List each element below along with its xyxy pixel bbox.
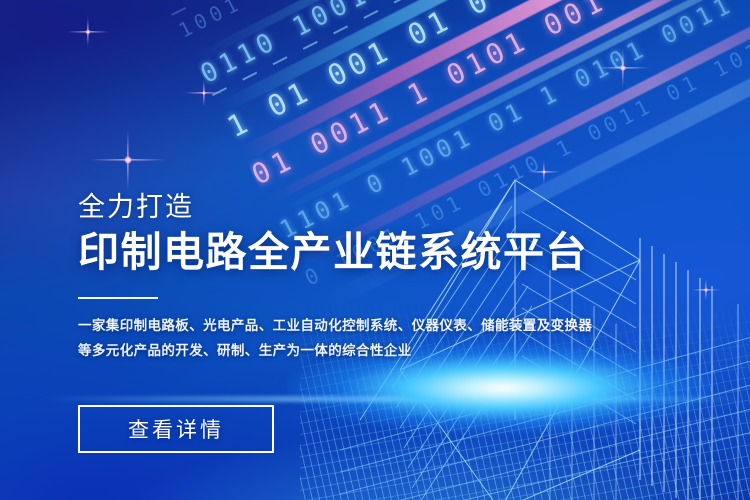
hero-eyebrow: 全力打造 [78,192,678,223]
divider-rule [78,297,158,299]
hero-description-line-1: 一家集印制电路板、光电产品、工业自动化控制系统、仪器仪表、储能装置及变换器 [78,313,678,338]
hero-copy-block: 全力打造 印制电路全产业链系统平台 一家集印制电路板、光电产品、工业自动化控制系… [78,192,678,363]
hero-description-line-2: 等多元化产品的开发、研制、生产为一体的综合性企业 [78,338,678,363]
view-details-button[interactable]: 查看详情 [78,405,274,453]
hero-banner: 1001 101 10011 01 1001 0110 1 0110 1001 … [0,0,750,500]
hero-headline: 印制电路全产业链系统平台 [78,230,678,276]
hero-description: 一家集印制电路板、光电产品、工业自动化控制系统、仪器仪表、储能装置及变换器 等多… [78,313,678,363]
